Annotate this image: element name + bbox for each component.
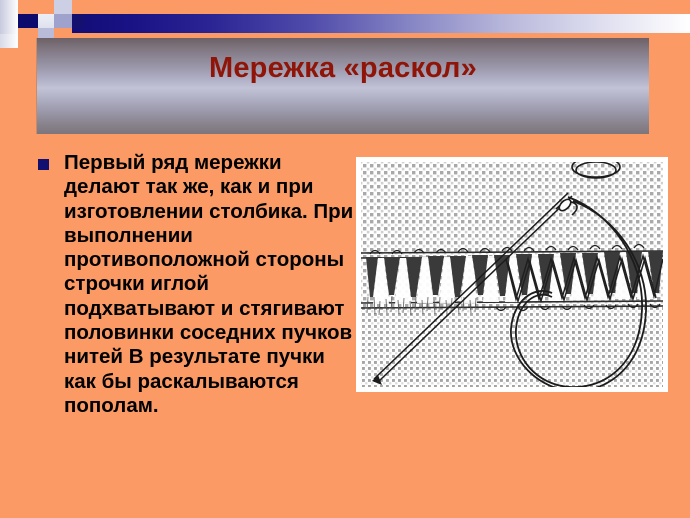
deco-square-gradient-1 <box>0 0 18 34</box>
deco-square-orange-1 <box>18 0 38 14</box>
slide-title: Мережка «раскол» <box>37 52 649 85</box>
deco-square-gradient-2 <box>0 34 18 48</box>
slide: Мережка «раскол» Первый ряд мережки дела… <box>0 0 690 518</box>
deco-square-navy-2 <box>72 14 84 28</box>
embroidery-illustration-svg <box>356 157 668 392</box>
bullet-paragraph: Первый ряд мережки делают так же, как и … <box>38 151 358 418</box>
deco-square-navy-1 <box>18 14 38 28</box>
deco-square-mid-3 <box>54 28 72 34</box>
deco-square-light-1 <box>38 14 54 28</box>
title-plate: Мережка «раскол» <box>36 38 649 134</box>
deco-square-orange-3 <box>38 0 54 14</box>
gradient-bar-decoration <box>40 14 690 33</box>
bullet-paragraph-text: Первый ряд мережки делают так же, как и … <box>64 151 358 418</box>
deco-square-orange-2 <box>18 28 38 48</box>
hemstitch-drawn-thread-embroidery-diagram <box>356 157 668 392</box>
deco-square-mid-1 <box>54 0 72 14</box>
square-bullet-icon <box>38 159 49 170</box>
deco-square-right-1 <box>72 0 82 14</box>
slide-body: Первый ряд мережки делают так же, как и … <box>0 145 690 445</box>
deco-square-mid-2 <box>54 14 72 28</box>
